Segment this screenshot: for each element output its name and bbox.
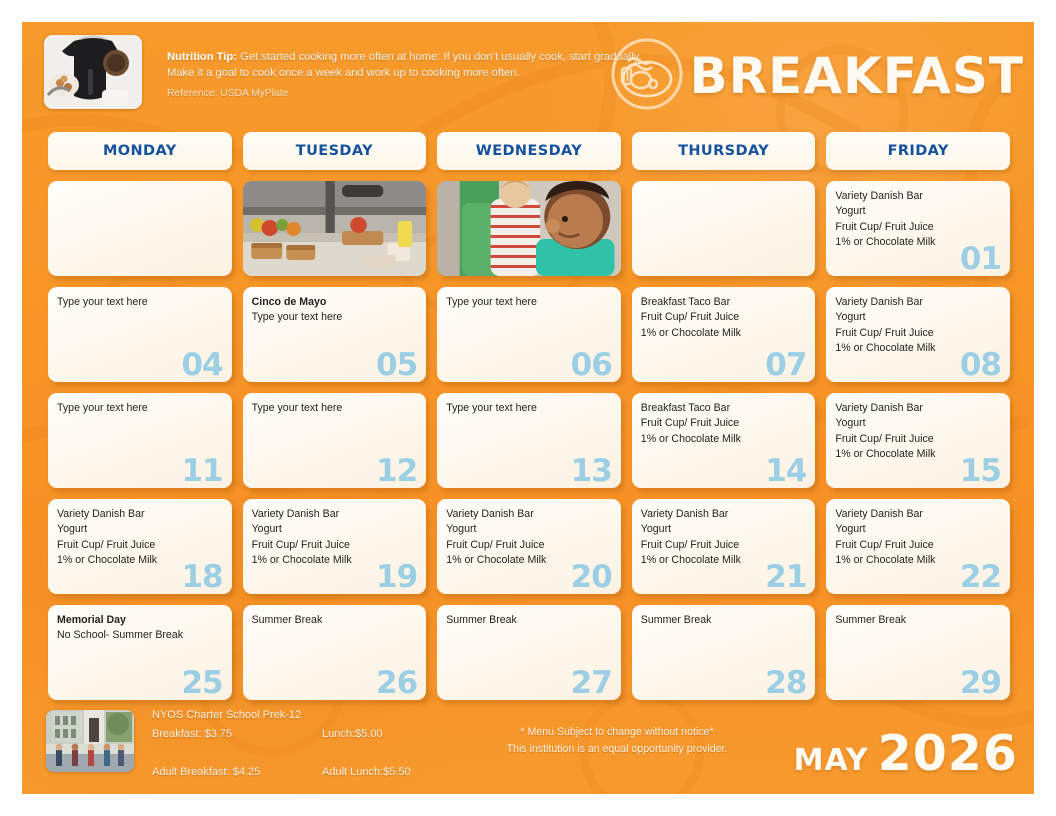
calendar-weeks: Variety Danish BarYogurtFruit Cup/ Fruit…	[48, 181, 1010, 700]
day-number: 06	[571, 350, 612, 381]
calendar-day-cell[interactable]: Variety Danish BarYogurtFruit Cup/ Fruit…	[632, 499, 816, 594]
weekday-header-row: MONDAY TUESDAY WEDNESDAY THURSDAY FRIDAY	[48, 132, 1010, 170]
menu-item-list: Variety Danish BarYogurtFruit Cup/ Fruit…	[641, 507, 807, 568]
menu-item-list: Cinco de MayoType your text here	[252, 295, 418, 326]
menu-item-line: Summer Break	[252, 613, 418, 628]
weekday-header-friday: FRIDAY	[826, 132, 1010, 170]
day-number: 04	[181, 350, 222, 381]
calendar-day-cell[interactable]: Type your text here11	[48, 393, 232, 488]
menu-item-line: Type your text here	[446, 401, 612, 416]
calendar-day-cell[interactable]: Variety Danish BarYogurtFruit Cup/ Fruit…	[826, 499, 1010, 594]
calendar-photo-cell[interactable]	[437, 181, 621, 276]
menu-item-line: Variety Danish Bar	[835, 189, 1001, 204]
nutrition-tip-label: Nutrition Tip:	[167, 51, 237, 63]
menu-item-line: Fruit Cup/ Fruit Juice	[252, 538, 418, 553]
adult-lunch-price: Adult Lunch:$5.50	[322, 763, 482, 782]
menu-item-list: Variety Danish BarYogurtFruit Cup/ Fruit…	[835, 507, 1001, 568]
day-number: 13	[571, 456, 612, 487]
brand-title: BREAKFAST	[690, 51, 1024, 101]
menu-item-line: 1% or Chocolate Milk	[641, 432, 807, 447]
student-price-row: Breakfast: $3.75 Lunch:$5.00	[152, 725, 482, 744]
menu-item-list: Variety Danish BarYogurtFruit Cup/ Fruit…	[252, 507, 418, 568]
menu-item-line: Fruit Cup/ Fruit Juice	[835, 220, 1001, 235]
weekday-header-monday: MONDAY	[48, 132, 232, 170]
menu-item-line: Type your text here	[252, 310, 418, 325]
weekday-header-wednesday: WEDNESDAY	[437, 132, 621, 170]
menu-item-line: 1% or Chocolate Milk	[641, 326, 807, 341]
pricing-spacer	[152, 744, 482, 763]
menu-item-list: Memorial DayNo School- Summer Break	[57, 613, 223, 644]
calendar-day-cell[interactable]: Variety Danish BarYogurtFruit Cup/ Fruit…	[826, 287, 1010, 382]
menu-item-list: Type your text here	[57, 295, 223, 310]
calendar-week-row: Variety Danish BarYogurtFruit Cup/ Fruit…	[48, 499, 1010, 594]
menu-item-line: 1% or Chocolate Milk	[641, 553, 807, 568]
menu-change-notice: * Menu Subject to change without notice*	[452, 724, 782, 741]
menu-item-list: Variety Danish BarYogurtFruit Cup/ Fruit…	[446, 507, 612, 568]
day-number: 05	[376, 350, 417, 381]
calendar-day-cell[interactable]	[632, 181, 816, 276]
school-name-row: NYOS Charter School Prek-12	[152, 706, 482, 725]
weekday-header-thursday: THURSDAY	[632, 132, 816, 170]
calendar-photo-cell[interactable]	[243, 181, 427, 276]
menu-item-line: Fruit Cup/ Fruit Juice	[641, 416, 807, 431]
menu-item-line: Fruit Cup/ Fruit Juice	[835, 326, 1001, 341]
day-number: 29	[960, 668, 1001, 699]
menu-item-line: Type your text here	[252, 401, 418, 416]
adult-price-row: Adult Breakfast: $4.25 Adult Lunch:$5.50	[152, 763, 482, 782]
menu-highlight-label: Cinco de Mayo	[252, 295, 418, 310]
year-label: 2026	[878, 725, 1018, 782]
calendar-day-cell[interactable]: Breakfast Taco BarFruit Cup/ Fruit Juice…	[632, 287, 816, 382]
menu-item-line: Type your text here	[57, 401, 223, 416]
apron-and-utensils-image	[44, 35, 142, 109]
calendar-grid: MONDAY TUESDAY WEDNESDAY THURSDAY FRIDAY	[48, 132, 1010, 711]
calendar-week-row: Type your text here04Cinco de MayoType y…	[48, 287, 1010, 382]
menu-item-line: Fruit Cup/ Fruit Juice	[835, 432, 1001, 447]
day-number: 12	[376, 456, 417, 487]
calendar-day-cell[interactable]: Summer Break27	[437, 605, 621, 700]
menu-item-line: Breakfast Taco Bar	[641, 295, 807, 310]
menu-item-line: Type your text here	[446, 295, 612, 310]
menu-item-line: Summer Break	[835, 613, 1001, 628]
day-number: 07	[765, 350, 806, 381]
menu-item-line: Type your text here	[57, 295, 223, 310]
menu-highlight-label: Memorial Day	[57, 613, 223, 628]
menu-item-line: Variety Danish Bar	[835, 507, 1001, 522]
calendar-day-cell[interactable]: Summer Break28	[632, 605, 816, 700]
brand-lockup: BREAKFAST	[608, 32, 1024, 120]
day-number: 27	[571, 668, 612, 699]
menu-item-line: Fruit Cup/ Fruit Juice	[641, 310, 807, 325]
nutrition-tip-text: Nutrition Tip: Get started cooking more …	[167, 50, 667, 81]
calendar-day-cell[interactable]: Type your text here04	[48, 287, 232, 382]
menu-item-line: Yogurt	[641, 522, 807, 537]
menu-item-line: 1% or Chocolate Milk	[835, 341, 1001, 356]
menu-item-line: Yogurt	[835, 522, 1001, 537]
menu-item-list: Summer Break	[446, 613, 612, 628]
day-number: 28	[765, 668, 806, 699]
menu-item-line: Summer Break	[641, 613, 807, 628]
menu-item-list: Summer Break	[835, 613, 1001, 628]
menu-poster: Nutrition Tip: Get started cooking more …	[22, 22, 1034, 794]
calendar-day-cell[interactable]	[48, 181, 232, 276]
equal-opportunity-notice: This institution is an equal opportunity…	[452, 741, 782, 758]
calendar-day-cell[interactable]: Summer Break29	[826, 605, 1010, 700]
menu-item-line: Yogurt	[446, 522, 612, 537]
breakfast-price: Breakfast: $3.75	[152, 725, 322, 744]
menu-item-line: Summer Break	[446, 613, 612, 628]
calendar-week-row: Type your text here11Type your text here…	[48, 393, 1010, 488]
menu-item-line: Fruit Cup/ Fruit Juice	[835, 538, 1001, 553]
calendar-day-cell[interactable]: Variety Danish BarYogurtFruit Cup/ Fruit…	[243, 499, 427, 594]
menu-item-line: Breakfast Taco Bar	[641, 401, 807, 416]
menu-item-list: Summer Break	[641, 613, 807, 628]
poster-header: Nutrition Tip: Get started cooking more …	[22, 22, 1034, 130]
menu-item-line: Variety Danish Bar	[446, 507, 612, 522]
day-number: 11	[181, 456, 222, 487]
menu-item-list: Variety Danish BarYogurtFruit Cup/ Fruit…	[835, 401, 1001, 462]
menu-item-list: Summer Break	[252, 613, 418, 628]
weekday-header-tuesday: TUESDAY	[243, 132, 427, 170]
menu-item-list: Type your text here	[446, 295, 612, 310]
menu-item-line: Fruit Cup/ Fruit Juice	[446, 538, 612, 553]
menu-item-line: Variety Danish Bar	[641, 507, 807, 522]
menu-item-line: 1% or Chocolate Milk	[835, 553, 1001, 568]
menu-item-line: Variety Danish Bar	[835, 295, 1001, 310]
calendar-day-cell[interactable]: Type your text here13	[437, 393, 621, 488]
students-in-lunch-line-photo	[437, 181, 621, 276]
menu-item-line: 1% or Chocolate Milk	[835, 235, 1001, 250]
menu-item-line: Variety Danish Bar	[252, 507, 418, 522]
calendar-day-cell[interactable]: Memorial DayNo School- Summer Break25	[48, 605, 232, 700]
nutrition-tip-body: Get started cooking more often at home: …	[167, 51, 642, 79]
menu-item-list: Type your text here	[446, 401, 612, 416]
menu-item-line: Fruit Cup/ Fruit Juice	[57, 538, 223, 553]
school-photo	[46, 710, 134, 772]
day-number: 26	[376, 668, 417, 699]
menu-item-line: 1% or Chocolate Milk	[252, 553, 418, 568]
menu-item-line: 1% or Chocolate Milk	[835, 447, 1001, 462]
menu-item-list: Breakfast Taco BarFruit Cup/ Fruit Juice…	[641, 295, 807, 341]
day-number: 25	[181, 668, 222, 699]
menu-item-list: Variety Danish BarYogurtFruit Cup/ Fruit…	[57, 507, 223, 568]
breakfast-plate-icon	[608, 35, 686, 118]
calendar-day-cell[interactable]: Variety Danish BarYogurtFruit Cup/ Fruit…	[48, 499, 232, 594]
menu-item-line: 1% or Chocolate Milk	[446, 553, 612, 568]
calendar-day-cell[interactable]: Cinco de MayoType your text here05	[243, 287, 427, 382]
menu-item-line: Yogurt	[57, 522, 223, 537]
school-entrance-image	[46, 710, 134, 772]
calendar-week-row: Variety Danish BarYogurtFruit Cup/ Fruit…	[48, 181, 1010, 276]
calendar-day-cell[interactable]: Summer Break26	[243, 605, 427, 700]
menu-item-list: Variety Danish BarYogurtFruit Cup/ Fruit…	[835, 189, 1001, 250]
menu-item-line: Yogurt	[835, 310, 1001, 325]
menu-item-line: 1% or Chocolate Milk	[57, 553, 223, 568]
menu-item-list: Type your text here	[57, 401, 223, 416]
calendar-week-row: Memorial DayNo School- Summer Break25Sum…	[48, 605, 1010, 700]
calendar-day-cell[interactable]: Variety Danish BarYogurtFruit Cup/ Fruit…	[826, 181, 1010, 276]
menu-item-line: Yogurt	[252, 522, 418, 537]
menu-item-list: Type your text here	[252, 401, 418, 416]
calendar-day-cell[interactable]: Breakfast Taco BarFruit Cup/ Fruit Juice…	[632, 393, 816, 488]
menu-item-line: Fruit Cup/ Fruit Juice	[641, 538, 807, 553]
calendar-day-cell[interactable]: Type your text here06	[437, 287, 621, 382]
nutrition-tip-reference: Reference: USDA MyPlate	[167, 88, 288, 99]
menu-item-list: Variety Danish BarYogurtFruit Cup/ Fruit…	[835, 295, 1001, 356]
month-year-label: MAY 2026	[794, 725, 1018, 782]
adult-breakfast-price: Adult Breakfast: $4.25	[152, 763, 322, 782]
footer-notice: * Menu Subject to change without notice*…	[452, 724, 782, 758]
cafeteria-food-line-photo	[243, 181, 427, 276]
menu-item-line: Variety Danish Bar	[57, 507, 223, 522]
pricing-block: NYOS Charter School Prek-12 Breakfast: $…	[152, 706, 482, 782]
month-label: MAY	[794, 743, 869, 778]
day-number: 14	[765, 456, 806, 487]
menu-item-list: Breakfast Taco BarFruit Cup/ Fruit Juice…	[641, 401, 807, 447]
menu-item-line: Yogurt	[835, 416, 1001, 431]
calendar-day-cell[interactable]: Type your text here12	[243, 393, 427, 488]
menu-item-line: No School- Summer Break	[57, 628, 223, 643]
calendar-day-cell[interactable]: Variety Danish BarYogurtFruit Cup/ Fruit…	[826, 393, 1010, 488]
school-name: NYOS Charter School Prek-12	[152, 706, 322, 725]
menu-item-line: Yogurt	[835, 204, 1001, 219]
nutrition-tip-photo	[44, 35, 142, 109]
poster-footer: NYOS Charter School Prek-12 Breakfast: $…	[22, 702, 1034, 794]
menu-item-line: Variety Danish Bar	[835, 401, 1001, 416]
calendar-day-cell[interactable]: Variety Danish BarYogurtFruit Cup/ Fruit…	[437, 499, 621, 594]
